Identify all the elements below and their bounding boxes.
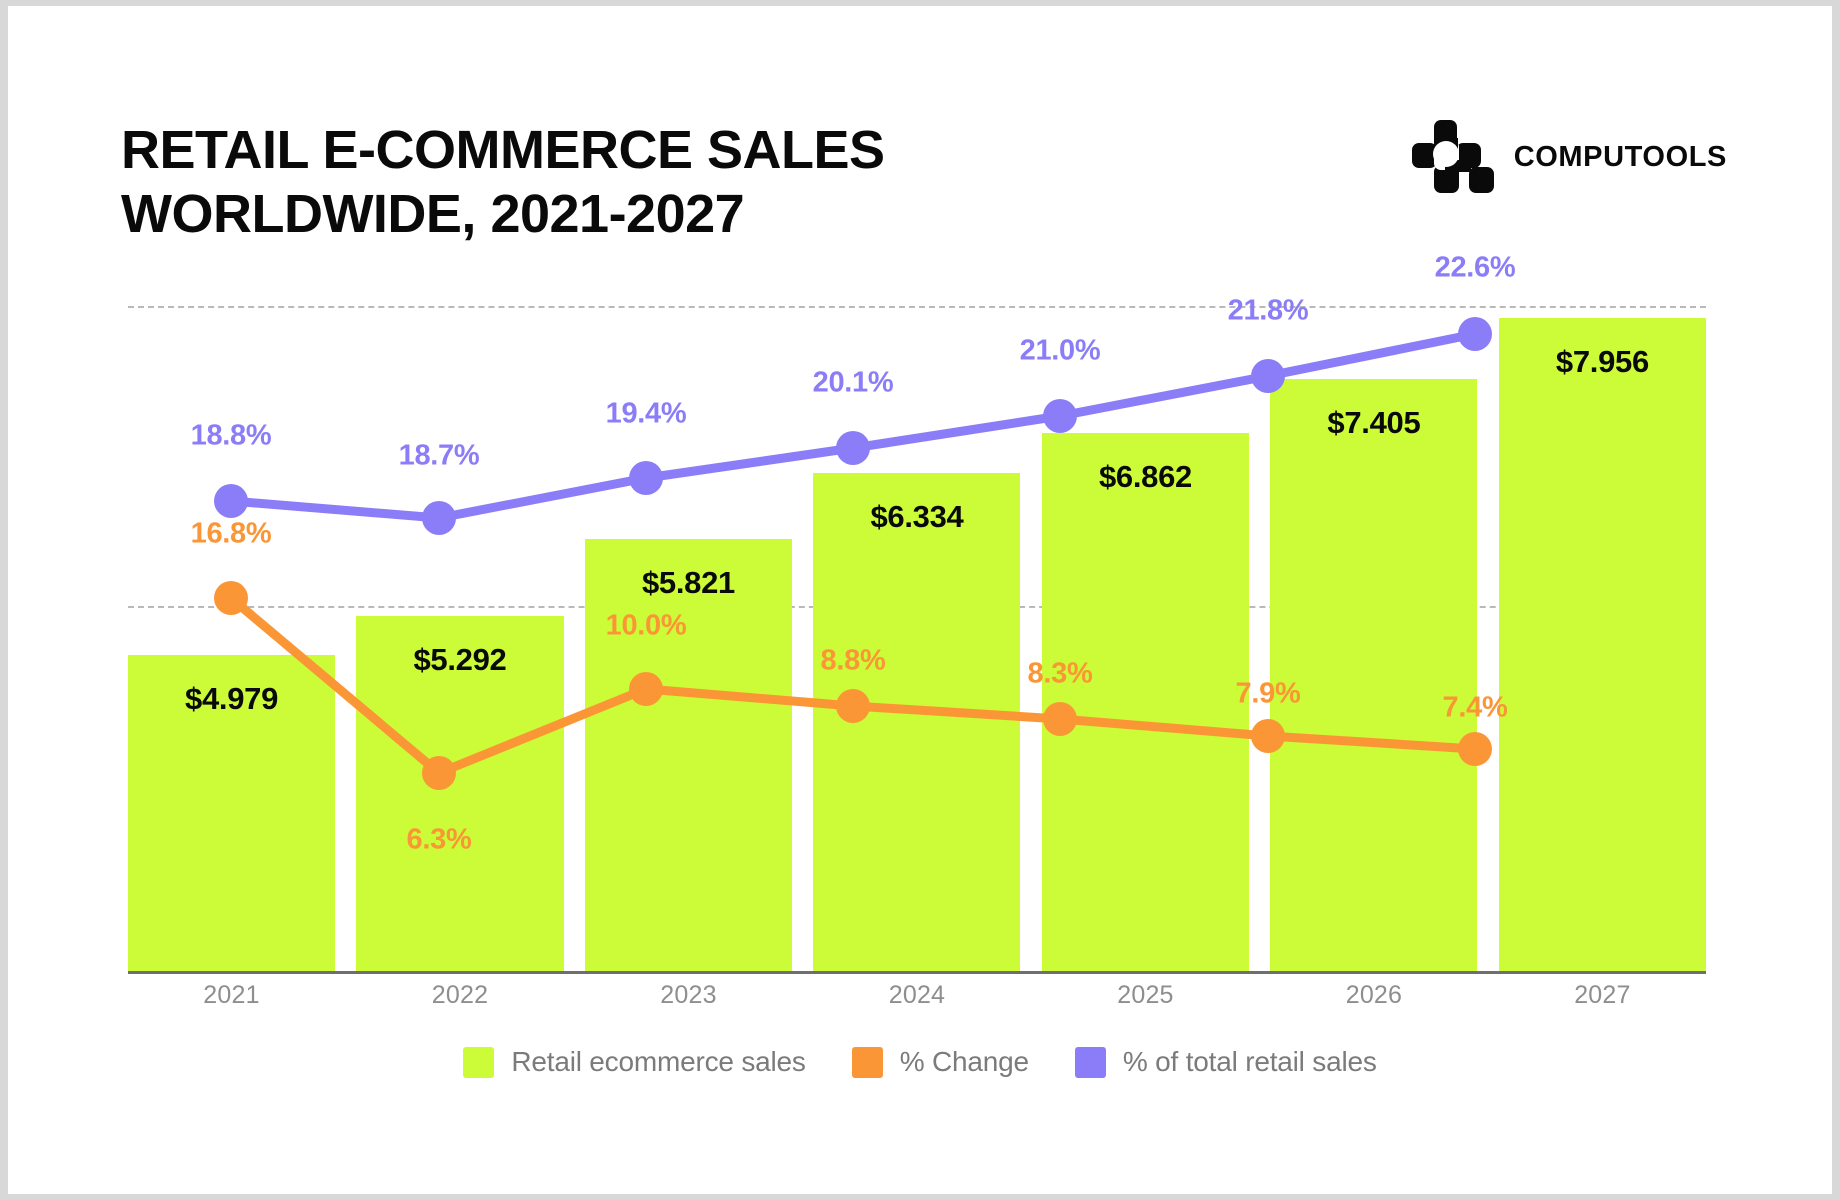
- change-label-2023: 10.0%: [606, 610, 687, 643]
- bar-value-label: $5.821: [585, 565, 792, 601]
- legend-item-sales[interactable]: Retail ecommerce sales: [463, 1046, 805, 1078]
- bar-slot: $7.956: [1499, 306, 1706, 971]
- bar-group: $4.979 $5.292 $5.821 $6.334 $6.8: [128, 306, 1706, 971]
- legend-swatch-share-icon: [1075, 1047, 1106, 1078]
- share-label-2023: 19.4%: [606, 398, 687, 431]
- bar-slot: $5.292: [356, 306, 563, 971]
- chart-legend: Retail ecommerce sales % Change % of tot…: [8, 1046, 1832, 1078]
- computools-blocks-icon: [1412, 120, 1494, 194]
- legend-label-sales: Retail ecommerce sales: [511, 1046, 805, 1078]
- plot-area: $4.979 $5.292 $5.821 $6.334 $6.8: [128, 306, 1706, 974]
- brand-lockup: COMPUTOOLS: [1412, 120, 1727, 194]
- legend-label-share: % of total retail sales: [1123, 1046, 1377, 1078]
- bar-2022[interactable]: $5.292: [356, 616, 563, 971]
- change-label-2025: 8.3%: [1028, 658, 1093, 691]
- share-label-2022: 18.7%: [399, 440, 480, 473]
- chart-canvas: RETAIL E-COMMERCE SALES WORLDWIDE, 2021-…: [8, 6, 1832, 1194]
- bar-2021[interactable]: $4.979: [128, 655, 335, 971]
- bar-2027[interactable]: $7.956: [1499, 318, 1706, 971]
- bar-value-label: $6.334: [813, 499, 1020, 535]
- bar-value-label: $7.405: [1270, 405, 1477, 441]
- bar-slot: $7.405: [1270, 306, 1477, 971]
- bar-value-label: $6.862: [1042, 459, 1249, 495]
- share-label-2026: 21.8%: [1228, 295, 1309, 328]
- bar-2023[interactable]: $5.821: [585, 539, 792, 971]
- legend-swatch-change-icon: [852, 1047, 883, 1078]
- legend-swatch-bar-icon: [463, 1047, 494, 1078]
- change-label-2021: 16.8%: [191, 518, 272, 551]
- legend-item-share[interactable]: % of total retail sales: [1075, 1046, 1377, 1078]
- bar-value-label: $4.979: [128, 681, 335, 717]
- bar-slot: $6.334: [813, 306, 1020, 971]
- chart-header: RETAIL E-COMMERCE SALES WORLDWIDE, 2021-…: [8, 6, 1832, 266]
- share-label-2021: 18.8%: [191, 420, 272, 453]
- share-label-2025: 21.0%: [1020, 335, 1101, 368]
- legend-item-change[interactable]: % Change: [852, 1046, 1029, 1078]
- bar-2024[interactable]: $6.334: [813, 473, 1020, 971]
- change-label-2027: 7.4%: [1443, 692, 1508, 725]
- x-axis-line: [128, 971, 1706, 974]
- brand-name: COMPUTOOLS: [1514, 141, 1727, 174]
- x-axis-ticks: 2021 2022 2023 2024 2025 2026 2027: [128, 981, 1706, 1010]
- change-label-2024: 8.8%: [821, 645, 886, 678]
- legend-label-change: % Change: [900, 1046, 1029, 1078]
- share-label-2024: 20.1%: [813, 367, 894, 400]
- change-label-2026: 7.9%: [1236, 678, 1301, 711]
- share-label-2027: 22.6%: [1435, 252, 1516, 285]
- x-tick-2025: 2025: [1042, 981, 1249, 1010]
- x-tick-2023: 2023: [585, 981, 792, 1010]
- x-tick-2027: 2027: [1499, 981, 1706, 1010]
- bar-slot: $6.862: [1042, 306, 1249, 971]
- x-tick-2026: 2026: [1270, 981, 1477, 1010]
- bar-slot: $4.979: [128, 306, 335, 971]
- bar-value-label: $5.292: [356, 642, 563, 678]
- bar-2025[interactable]: $6.862: [1042, 433, 1249, 971]
- x-tick-2022: 2022: [356, 981, 563, 1010]
- x-tick-2021: 2021: [128, 981, 335, 1010]
- bar-value-label: $7.956: [1499, 344, 1706, 380]
- change-label-2022: 6.3%: [407, 824, 472, 857]
- bar-2026[interactable]: $7.405: [1270, 379, 1477, 971]
- x-tick-2024: 2024: [813, 981, 1020, 1010]
- page-title: RETAIL E-COMMERCE SALES WORLDWIDE, 2021-…: [121, 118, 1101, 247]
